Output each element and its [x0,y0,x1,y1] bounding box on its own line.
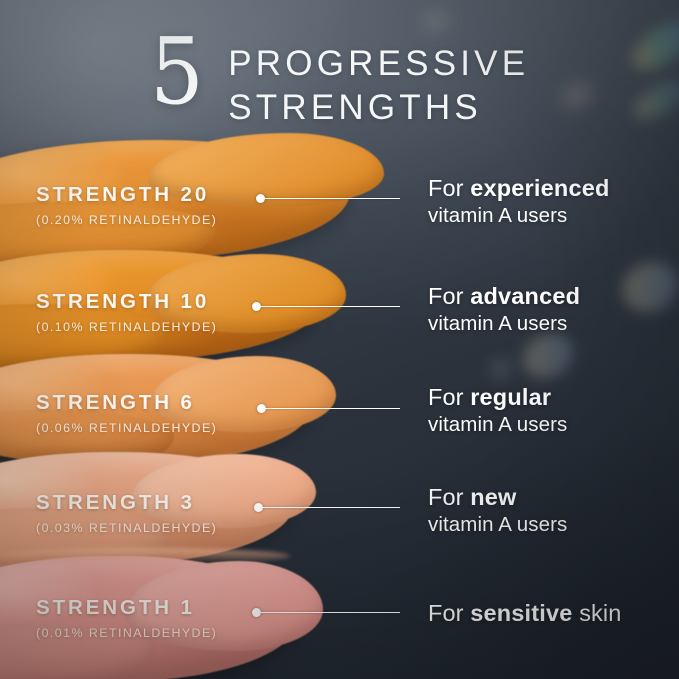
vignette-overlay [0,0,679,679]
infographic-canvas: STRENGTH 20 (0.20% RETINALDEHYDE) For ex… [0,0,679,679]
